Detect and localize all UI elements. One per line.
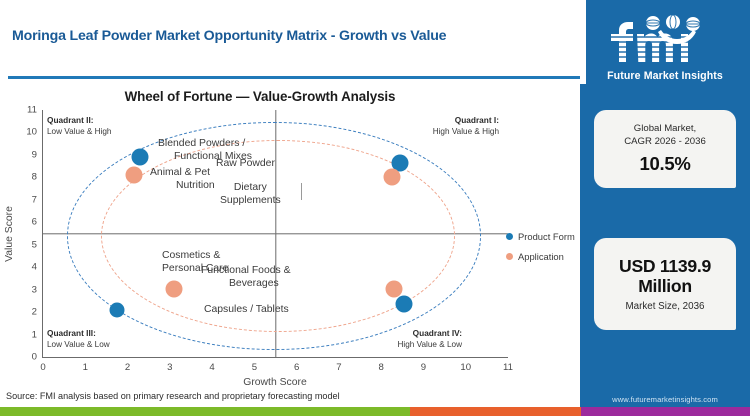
y-tick-6: 6 [32,217,37,228]
x-tick-11: 11 [503,362,513,373]
x-tick-1: 1 [83,362,88,373]
x-tick-0: 0 [40,362,45,373]
stat-market-size-value: USD 1139.9 Million [619,256,711,297]
y-tick-3: 3 [32,284,37,295]
fmi-logo-caption: Future Market Insights [580,70,750,82]
stat-market-size-caption: Market Size, 2036 [626,301,705,312]
y-tick-1: 1 [32,329,37,340]
y-axis-title: Value Score [4,206,15,262]
data-point[interactable] [396,296,413,313]
quadrant-label-iv: Quadrant IV: High Value & Low [398,328,462,350]
x-tick-3: 3 [167,362,172,373]
leader-line-dietary [301,183,302,200]
bottom-color-bar [0,407,750,416]
bottom-bar-segment-1 [410,407,580,416]
data-point[interactable] [132,149,149,166]
quadrant-label-i: Quadrant I: High Value & High [433,115,499,137]
data-point[interactable] [166,280,183,297]
legend-item-application[interactable]: Application [506,251,575,262]
stat-cagr-caption: Global Market, CAGR 2026 - 2036 [624,123,706,148]
bottom-bar-segment-2 [581,407,750,416]
sidebar-panel: Future Market Insights Global Market, CA… [580,0,750,416]
point-label-raw-powder: Raw Powder [216,158,275,171]
y-tick-10: 10 [26,127,37,138]
y-tick-0: 0 [32,352,37,363]
legend-label-product-form: Product Form [518,231,575,242]
legend-swatch-product-form [506,233,513,240]
legend-item-product-form[interactable]: Product Form [506,231,575,242]
x-tick-5: 5 [252,362,257,373]
quadrant-label-ii: Quadrant II: Low Value & High [47,115,111,137]
legend-swatch-application [506,253,513,260]
website-url[interactable]: www.futuremarketinsights.com [580,395,750,404]
chart-title: Wheel of Fortune — Value-Growth Analysis [0,89,520,104]
stat-cagr-value: 10.5% [640,153,691,175]
point-label-capsules-tablets: Capsules / Tablets [204,304,289,317]
y-tick-8: 8 [32,172,37,183]
x-tick-6: 6 [294,362,299,373]
bottom-bar-segment-0 [0,407,410,416]
point-label-dietary-supplements: Dietary Supplements [220,182,281,207]
y-tick-4: 4 [32,262,37,273]
title-divider [8,76,580,79]
data-point[interactable] [385,280,402,297]
x-tick-7: 7 [336,362,341,373]
fmi-logo-icon [601,12,729,68]
x-tick-4: 4 [209,362,214,373]
x-axis-title: Growth Score [42,377,508,388]
chart-legend: Product Form Application [506,231,575,271]
main-chart-panel: Moringa Leaf Powder Market Opportunity M… [0,0,580,416]
y-tick-11: 11 [27,105,37,116]
stat-card-cagr: Global Market, CAGR 2026 - 2036 10.5% [594,110,736,188]
data-point[interactable] [383,169,400,186]
y-tick-2: 2 [32,307,37,318]
y-tick-9: 9 [32,149,37,160]
plot-area: 01234567891011 01234567891011 Quadrant I… [42,110,508,358]
point-label-animal-pet-nutrition: Animal & Pet Nutrition [150,167,215,192]
x-tick-8: 8 [379,362,384,373]
quadrant-divider-horizontal [43,233,508,234]
x-tick-10: 10 [460,362,471,373]
quadrant-label-iii: Quadrant III: Low Value & Low [47,328,110,350]
source-note: Source: FMI analysis based on primary re… [6,391,340,401]
y-tick-5: 5 [32,239,37,250]
data-point[interactable] [125,167,142,184]
y-tick-7: 7 [32,194,37,205]
fmi-logo: Future Market Insights [580,12,750,82]
point-label-functional-foods: Functional Foods & Beverages [201,265,291,290]
page-title: Moringa Leaf Powder Market Opportunity M… [12,28,446,44]
x-tick-2: 2 [125,362,130,373]
x-tick-9: 9 [421,362,426,373]
data-point[interactable] [109,302,124,317]
stat-card-market-size: USD 1139.9 Million Market Size, 2036 [594,238,736,330]
legend-label-application: Application [518,251,564,262]
